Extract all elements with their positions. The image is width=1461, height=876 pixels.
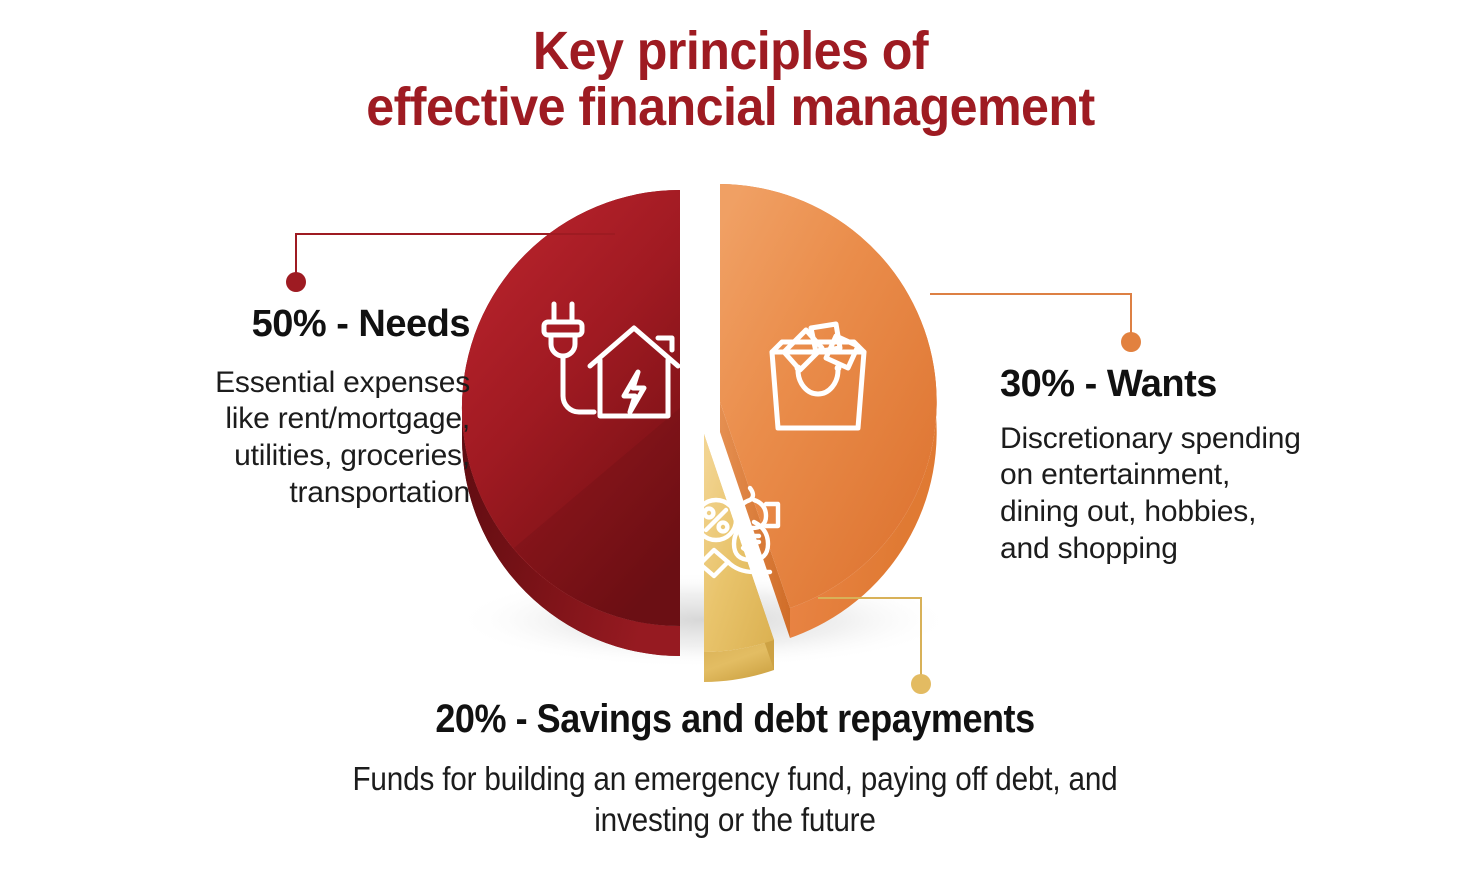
title-line-2: effective financial management bbox=[366, 77, 1094, 137]
callout-wants[interactable]: 30% - Wants Discretionary spending on en… bbox=[1000, 365, 1380, 567]
callout-needs-heading: 50% - Needs bbox=[140, 305, 470, 345]
title-line-1: Key principles of bbox=[533, 21, 928, 81]
callout-wants-description: Discretionary spending on entertainment,… bbox=[1000, 421, 1380, 567]
connector-needs-dot bbox=[286, 272, 306, 292]
infographic-canvas: Key principles of effective financial ma… bbox=[0, 0, 1461, 876]
callout-needs-description: Essential expenses like rent/mortgage, u… bbox=[140, 365, 470, 511]
page-title: Key principles of effective financial ma… bbox=[51, 24, 1410, 135]
callout-needs[interactable]: 50% - Needs Essential expenses like rent… bbox=[140, 305, 470, 511]
connector-savings-dot bbox=[911, 674, 931, 694]
callout-savings[interactable]: 20% - Savings and debt repayments Funds … bbox=[180, 698, 1290, 841]
callout-savings-heading: 20% - Savings and debt repayments bbox=[236, 698, 1235, 740]
connector-savings-vertical bbox=[920, 597, 922, 683]
callout-savings-description: Funds for building an emergency fund, pa… bbox=[236, 758, 1235, 841]
pie-chart bbox=[442, 168, 1002, 668]
pie-slice-needs[interactable] bbox=[462, 190, 680, 656]
connector-savings-horizontal bbox=[818, 597, 922, 599]
connector-wants-horizontal bbox=[930, 293, 1132, 295]
callout-wants-heading: 30% - Wants bbox=[1000, 365, 1380, 405]
connector-needs-horizontal bbox=[295, 233, 615, 235]
connector-wants-dot bbox=[1121, 332, 1141, 352]
